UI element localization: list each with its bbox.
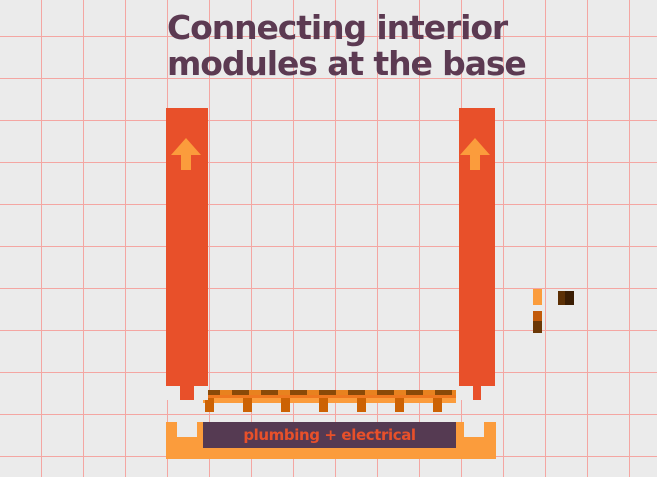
swatch-orange-dark bbox=[533, 311, 542, 321]
right-module-foot-notch bbox=[481, 386, 495, 400]
connector-beam bbox=[203, 390, 456, 403]
base-plate-notch bbox=[464, 422, 484, 437]
arrow-head bbox=[460, 138, 490, 155]
beam-tab bbox=[357, 398, 366, 412]
diagram-canvas: Connecting interior modules at the base … bbox=[0, 0, 657, 477]
left-up-arrow-icon bbox=[171, 138, 201, 170]
arrow-shaft bbox=[470, 154, 480, 170]
beam-tab bbox=[433, 398, 442, 412]
left-module-foot-notch bbox=[166, 386, 180, 400]
beam-tab bbox=[281, 398, 290, 412]
base-plate-notch bbox=[177, 422, 197, 437]
plumbing-electrical-label: plumbing + electrical bbox=[243, 426, 415, 444]
swatch-brown-deep bbox=[533, 321, 542, 333]
beam-tab bbox=[395, 398, 404, 412]
page-title: Connecting interior modules at the base bbox=[167, 10, 587, 82]
plumbing-electrical-bar: plumbing + electrical bbox=[203, 422, 456, 448]
arrow-head bbox=[171, 138, 201, 155]
beam-lower-band bbox=[203, 398, 456, 403]
right-module-foot-notch bbox=[459, 386, 473, 400]
swatch-orange-light bbox=[533, 289, 542, 305]
left-module-foot-notch bbox=[194, 386, 208, 400]
right-up-arrow-icon bbox=[460, 138, 490, 170]
arrow-shaft bbox=[181, 154, 191, 170]
beam-tab bbox=[319, 398, 328, 412]
beam-tab bbox=[243, 398, 252, 412]
beam-tab bbox=[205, 398, 214, 412]
swatch-brown-dark bbox=[565, 291, 574, 305]
